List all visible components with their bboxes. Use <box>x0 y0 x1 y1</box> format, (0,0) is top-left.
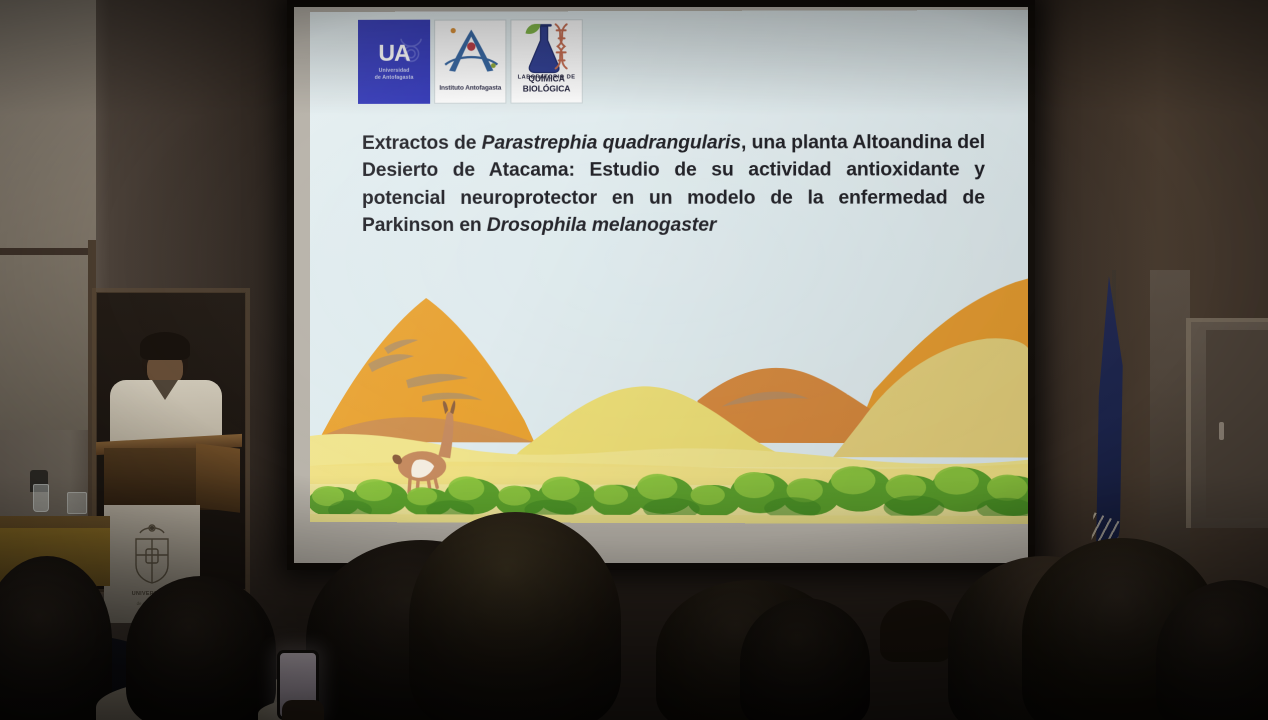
projection-screen-frame: UA Universidad de Antofagasta <box>287 0 1035 570</box>
slide-logo-bar: UA Universidad de Antofagasta <box>358 19 583 104</box>
flask-dna-leaf-icon <box>520 22 574 76</box>
title-seg-1-italic: Parastrephia quadrangularis <box>482 132 741 153</box>
attendee-hand <box>282 700 324 720</box>
title-seg-3-italic: Drosophila melanogaster <box>487 215 716 236</box>
left-wall-panel <box>0 0 96 430</box>
presentation-photo-scene: UA Universidad de Antofagasta <box>0 0 1268 720</box>
atacama-desert-illustration <box>310 260 1028 524</box>
doorway-inner <box>1206 330 1268 518</box>
presenter-hair <box>140 332 190 360</box>
universidad-de-antofagasta-logo: UA Universidad de Antofagasta <box>358 20 430 104</box>
water-glass-left <box>33 484 49 512</box>
instituto-arc-icon <box>439 24 503 82</box>
laboratorio-quimica-biologica-logo: LABORATORIO DE QUÍMICA BIOLÓGICA <box>510 19 582 103</box>
projection-screen-surface: UA Universidad de Antofagasta <box>294 7 1028 563</box>
title-seg-0: Extractos de <box>362 133 482 154</box>
ua-subtitle: Universidad de Antofagasta <box>358 68 430 82</box>
podium-side <box>196 443 240 512</box>
left-wall-trim <box>0 248 96 255</box>
audience-head <box>740 598 870 720</box>
instituto-antofagasta-label: Instituto Antofagasta <box>435 85 505 92</box>
audience-head <box>126 576 276 720</box>
water-glass-right <box>67 492 87 514</box>
coat-of-arms-icon <box>126 519 178 585</box>
instituto-antofagasta-logo: Instituto Antofagasta <box>434 19 506 103</box>
audience-head <box>880 600 952 662</box>
ua-abbrev: UA <box>358 42 430 65</box>
presentation-slide: UA Universidad de Antofagasta <box>310 10 1028 524</box>
laboratorio-label-line2: QUÍMICA BIOLÓGICA <box>511 73 581 93</box>
audience-head <box>409 512 621 720</box>
door-handle <box>1219 422 1224 440</box>
slide-title: Extractos de Parastrephia quadrangularis… <box>362 129 985 239</box>
right-wall-panel <box>1150 270 1190 570</box>
